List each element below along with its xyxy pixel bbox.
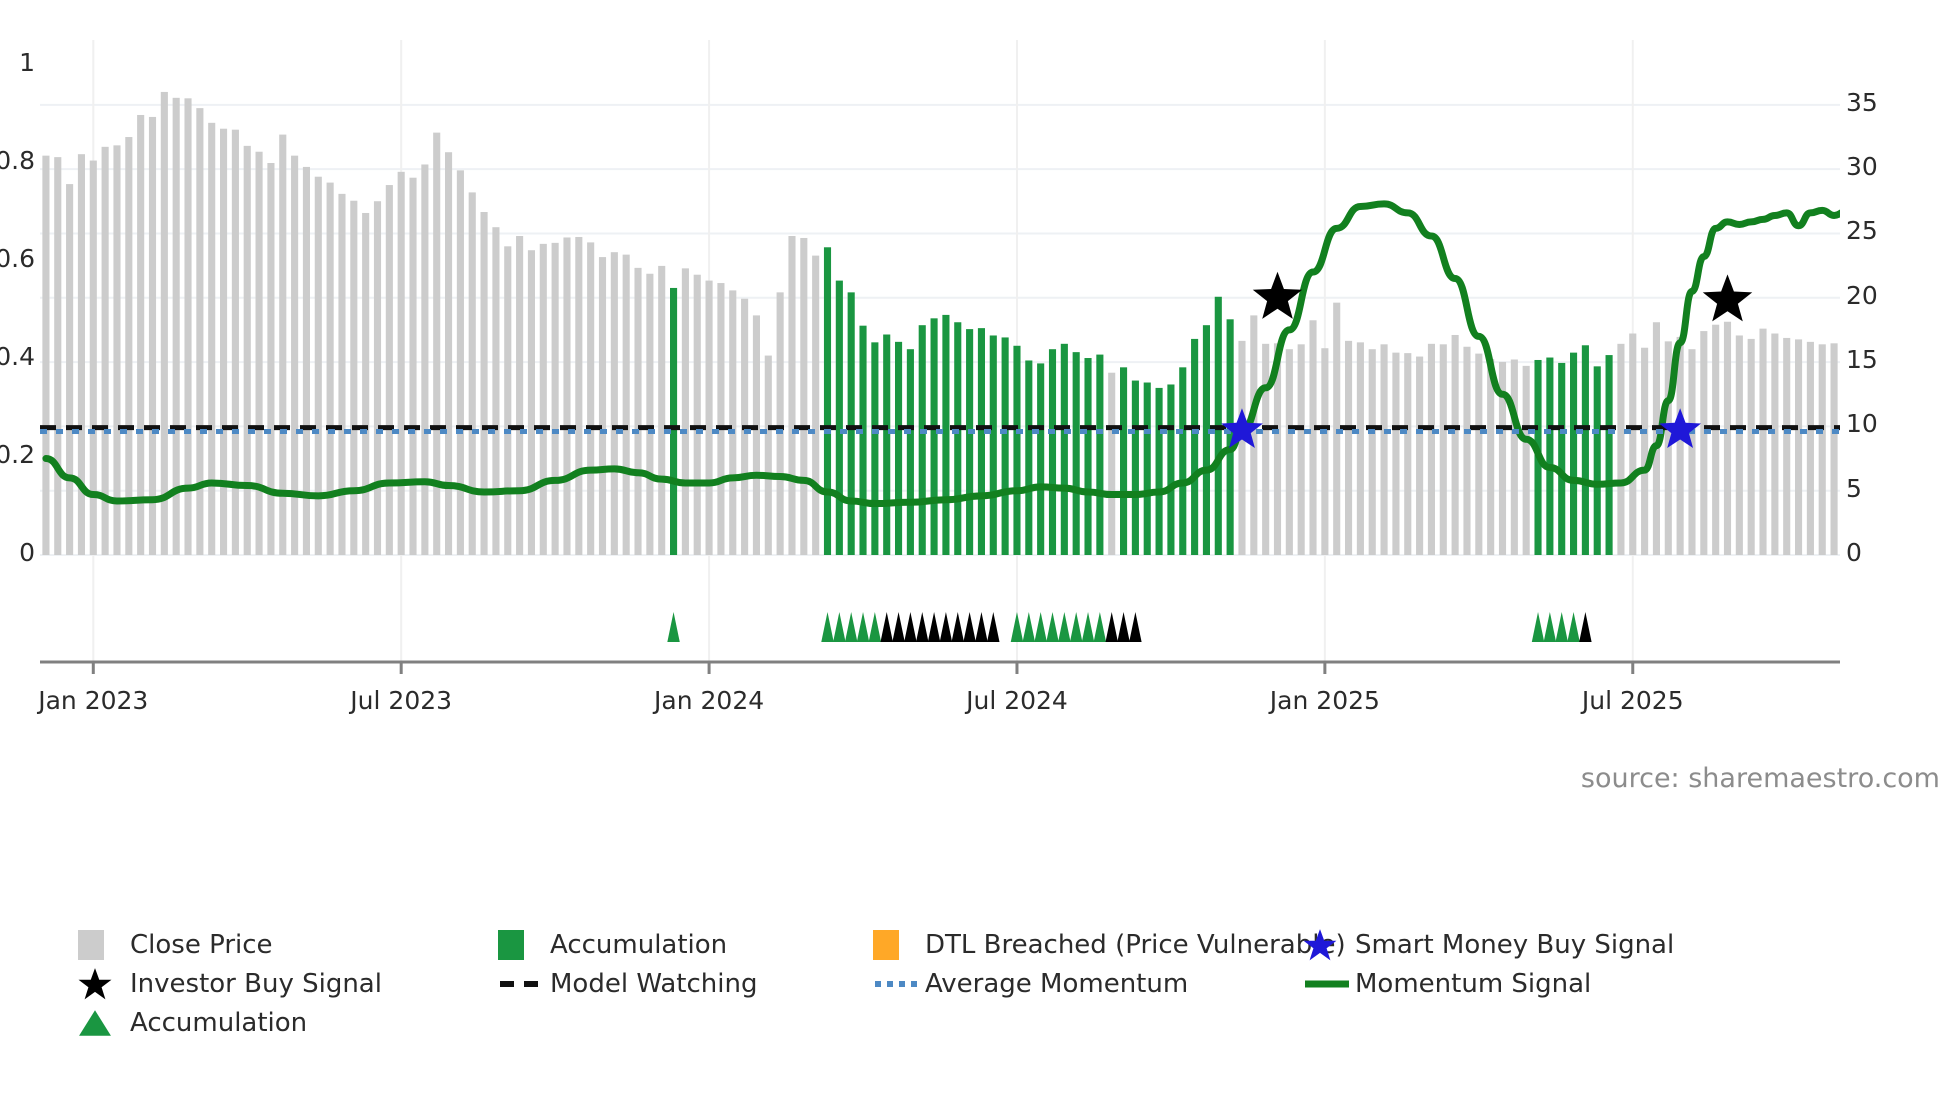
y-axis-left-tick: 0.8	[0, 146, 35, 175]
price-bar	[1381, 344, 1388, 555]
y-axis-left-tick: 0.4	[0, 342, 35, 371]
legend-label: DTL Breached (Price Vulnerable)	[925, 930, 1346, 960]
x-axis-tick-label: Jul 2024	[966, 686, 1068, 715]
legend-label: Close Price	[130, 930, 273, 960]
legend-item-smart-money[interactable]: Smart Money Buy Signal	[1303, 925, 1674, 964]
y-axis-right-tick: 5	[1846, 474, 1862, 503]
price-bar	[623, 255, 630, 555]
price-bar	[1309, 320, 1316, 555]
price-bar	[1392, 353, 1399, 555]
price-bar	[1049, 349, 1056, 555]
y-axis-left-tick: 1	[19, 48, 35, 77]
price-bar	[350, 201, 357, 555]
legend-item-investor-buy[interactable]: Investor Buy Signal	[78, 964, 498, 1003]
x-axis-tick-label: Jan 2023	[38, 686, 148, 715]
dotted-line-icon	[873, 978, 925, 990]
price-bar	[1416, 357, 1423, 555]
price-bar	[1546, 358, 1553, 555]
accumulation-triangle	[1046, 612, 1058, 642]
price-bar	[338, 194, 345, 555]
price-bar	[232, 130, 239, 555]
price-bar	[907, 349, 914, 555]
price-bar	[1321, 348, 1328, 555]
price-bar	[1037, 363, 1044, 555]
price-bar	[1771, 334, 1778, 555]
x-axis-tick-label: Jan 2024	[654, 686, 764, 715]
price-bar	[1452, 335, 1459, 555]
legend-row-1: Close Price Accumulation DTL Breached (P…	[78, 925, 1948, 964]
accumulation-triangle	[1105, 612, 1117, 642]
dashed-line-icon	[498, 978, 550, 990]
accumulation-triangle	[928, 612, 940, 642]
accumulation-triangle	[1058, 612, 1070, 642]
price-bar	[161, 92, 168, 555]
y-axis-right-tick: 30	[1846, 152, 1878, 181]
accumulation-triangle	[952, 612, 964, 642]
price-bar	[859, 326, 866, 555]
price-bar	[1013, 346, 1020, 555]
price-bar	[1191, 339, 1198, 555]
price-bar	[1819, 344, 1826, 555]
legend-item-dtl-breached[interactable]: DTL Breached (Price Vulnerable)	[873, 925, 1303, 964]
price-bar	[1641, 348, 1648, 555]
price-bar	[563, 237, 570, 555]
accumulation-triangle	[1094, 612, 1106, 642]
price-bar	[954, 322, 961, 555]
legend-label: Model Watching	[550, 969, 757, 999]
price-bar	[729, 290, 736, 555]
price-bar	[990, 335, 997, 555]
price-bar	[78, 154, 85, 555]
accumulation-triangle	[1023, 612, 1035, 642]
legend-item-accumulation-marker[interactable]: Accumulation	[78, 1003, 307, 1042]
price-bar	[1523, 366, 1530, 555]
price-bar	[1179, 367, 1186, 555]
y-axis-right-tick: 10	[1846, 409, 1878, 438]
price-bar	[1345, 341, 1352, 555]
accumulation-triangle	[1082, 612, 1094, 642]
price-bar	[1238, 341, 1245, 555]
chart-legend: Close Price Accumulation DTL Breached (P…	[78, 925, 1948, 1042]
price-bar	[149, 117, 156, 555]
price-bar	[42, 156, 49, 555]
accumulation-triangle	[857, 612, 869, 642]
price-bar	[113, 145, 120, 555]
accumulation-triangle	[1555, 612, 1567, 642]
price-bar	[1167, 384, 1174, 555]
price-bar	[256, 152, 263, 555]
price-bar	[504, 246, 511, 555]
price-bar	[919, 325, 926, 555]
price-bar	[800, 238, 807, 555]
accumulation-triangle	[987, 612, 999, 642]
price-bar	[1333, 303, 1340, 555]
price-bar	[1795, 339, 1802, 555]
price-bar	[658, 266, 665, 555]
legend-item-momentum-signal[interactable]: Momentum Signal	[1303, 964, 1591, 1003]
chart-canvas	[40, 40, 1840, 680]
y-axis-right-tick: 15	[1846, 345, 1878, 374]
price-bar	[220, 129, 227, 555]
price-bar	[469, 192, 476, 555]
price-bar	[528, 250, 535, 555]
accumulation-triangle	[880, 612, 892, 642]
legend-label: Smart Money Buy Signal	[1355, 930, 1674, 960]
accumulation-triangle	[1011, 612, 1023, 642]
price-bar	[1357, 342, 1364, 555]
price-bar	[137, 115, 144, 555]
price-bar	[421, 164, 428, 555]
price-bar	[765, 356, 772, 555]
price-bar	[1617, 344, 1624, 555]
price-bar	[1594, 366, 1601, 555]
price-bar	[1144, 383, 1151, 555]
investor-buy-star[interactable]	[1703, 274, 1752, 321]
x-axis-tick-label: Jan 2025	[1270, 686, 1380, 715]
investor-buy-star[interactable]	[1253, 272, 1302, 319]
x-axis-tick-label: Jul 2025	[1582, 686, 1684, 715]
y-axis-right-tick: 25	[1846, 216, 1878, 245]
price-bar	[540, 244, 547, 555]
price-bar	[374, 201, 381, 555]
price-bar	[931, 318, 938, 555]
accumulation-triangle	[667, 612, 679, 642]
price-bar	[208, 123, 215, 555]
price-bar	[942, 315, 949, 555]
price-bar	[244, 146, 251, 555]
accumulation-triangle	[1070, 612, 1082, 642]
price-bar	[1736, 335, 1743, 555]
accumulation-triangle	[869, 612, 881, 642]
price-bar	[812, 256, 819, 555]
accumulation-triangle	[975, 612, 987, 642]
price-bar	[386, 185, 393, 555]
price-bar	[445, 152, 452, 555]
price-bar	[682, 268, 689, 555]
price-bar	[398, 172, 405, 555]
close-price-swatch-icon	[78, 930, 130, 960]
price-bar	[717, 283, 724, 555]
chart-page: source: sharemaestro.com Close Price Acc…	[0, 0, 1960, 1102]
legend-label: Accumulation	[130, 1008, 307, 1038]
y-axis-right-tick: 0	[1846, 538, 1862, 567]
y-axis-left-tick: 0.2	[0, 440, 35, 469]
price-bar	[824, 247, 831, 555]
price-bar	[1156, 388, 1163, 555]
price-bar	[1025, 360, 1032, 555]
legend-item-accumulation-bar[interactable]: Accumulation	[498, 925, 873, 964]
price-bar	[1783, 338, 1790, 555]
plot-area	[40, 40, 1840, 680]
legend-label: Accumulation	[550, 930, 727, 960]
price-bar	[409, 178, 416, 555]
accumulation-triangle	[1532, 612, 1544, 642]
price-bar	[1606, 355, 1613, 555]
price-bar	[1688, 349, 1695, 555]
price-bar	[267, 163, 274, 555]
legend-item-model-watching[interactable]: Model Watching	[498, 964, 873, 1003]
price-bar	[978, 328, 985, 555]
price-bar	[433, 133, 440, 555]
y-axis-left-tick: 0.6	[0, 244, 35, 273]
accumulation-triangle	[940, 612, 952, 642]
price-bar	[1108, 373, 1115, 555]
accumulation-triangle	[821, 612, 833, 642]
source-watermark: source: sharemaestro.com	[1581, 763, 1940, 794]
price-bar	[1712, 325, 1719, 555]
price-bar	[871, 342, 878, 555]
price-bar	[706, 281, 713, 555]
accumulation-triangle	[1544, 612, 1556, 642]
price-bar	[1748, 339, 1755, 555]
price-bar	[646, 274, 653, 555]
price-bar	[670, 288, 677, 555]
price-bar	[634, 268, 641, 555]
price-bar	[694, 275, 701, 555]
price-bar	[1084, 358, 1091, 555]
accumulation-triangle	[963, 612, 975, 642]
price-bar	[66, 184, 73, 555]
accumulation-triangle	[904, 612, 916, 642]
price-bar	[1582, 345, 1589, 555]
price-bar	[1463, 347, 1470, 555]
price-bar	[1120, 367, 1127, 555]
price-bar	[575, 237, 582, 555]
legend-item-average-momentum[interactable]: Average Momentum	[873, 964, 1303, 1003]
price-bar	[1096, 355, 1103, 555]
price-bar	[457, 170, 464, 555]
price-bar	[1570, 353, 1577, 555]
price-bar	[788, 236, 795, 555]
price-bar	[1700, 331, 1707, 555]
price-bar	[481, 212, 488, 555]
price-bar	[54, 157, 61, 555]
price-bar	[1428, 344, 1435, 555]
price-bar	[1369, 349, 1376, 555]
accumulation-triangle	[845, 612, 857, 642]
price-bar	[1286, 349, 1293, 555]
price-bar	[125, 137, 132, 555]
price-bar	[1724, 322, 1731, 555]
investor-buy-star-icon	[78, 967, 130, 1001]
legend-row-2: Investor Buy Signal Model Watching Avera…	[78, 964, 1948, 1003]
price-bar	[599, 257, 606, 555]
price-bar	[587, 242, 594, 555]
price-bar	[1759, 329, 1766, 555]
legend-label: Investor Buy Signal	[130, 969, 382, 999]
price-bar	[552, 243, 559, 555]
accumulation-triangle	[1129, 612, 1141, 642]
price-bar	[1002, 337, 1009, 555]
accumulation-triangle	[916, 612, 928, 642]
accumulation-triangle	[833, 612, 845, 642]
price-bar	[777, 292, 784, 555]
price-bar	[848, 292, 855, 555]
price-bar	[836, 281, 843, 555]
price-bar	[1203, 325, 1210, 555]
price-bar	[1558, 363, 1565, 555]
accumulation-triangle	[1567, 612, 1579, 642]
price-bar	[1404, 353, 1411, 555]
price-bar	[1440, 344, 1447, 555]
price-bar	[1807, 342, 1814, 555]
legend-label: Average Momentum	[925, 969, 1188, 999]
accumulation-triangle	[892, 612, 904, 642]
price-bar	[327, 183, 334, 555]
accumulation-triangle	[1579, 612, 1591, 642]
legend-row-3: Accumulation	[78, 1003, 1948, 1042]
price-bar	[966, 329, 973, 555]
price-bar	[516, 236, 523, 555]
price-bar	[1831, 343, 1838, 555]
legend-item-close-price[interactable]: Close Price	[78, 925, 498, 964]
smart-money-star-icon	[1303, 928, 1355, 962]
y-axis-left-tick: 0	[19, 538, 35, 567]
price-bar	[895, 342, 902, 555]
price-bar	[362, 213, 369, 555]
price-bar	[1511, 359, 1518, 555]
price-bar	[492, 227, 499, 555]
price-bar	[1629, 334, 1636, 555]
price-bar	[1073, 352, 1080, 555]
price-bar	[1132, 381, 1139, 555]
price-bar	[1298, 344, 1305, 555]
accumulation-triangle-icon	[78, 1008, 130, 1038]
legend-label: Momentum Signal	[1355, 969, 1591, 999]
y-axis-right-tick: 20	[1846, 281, 1878, 310]
y-axis-right-tick: 35	[1846, 88, 1878, 117]
price-bar	[1262, 344, 1269, 555]
price-bar	[883, 335, 890, 556]
accumulation-triangle	[1034, 612, 1046, 642]
dtl-breached-swatch-icon	[873, 930, 925, 960]
x-axis-tick-label: Jul 2023	[350, 686, 452, 715]
price-bar	[1475, 354, 1482, 555]
accumulation-swatch-icon	[498, 930, 550, 960]
price-bar	[753, 315, 760, 555]
price-bar	[611, 252, 618, 555]
price-bar	[1061, 344, 1068, 555]
solid-line-icon	[1303, 978, 1355, 990]
accumulation-triangle	[1117, 612, 1129, 642]
